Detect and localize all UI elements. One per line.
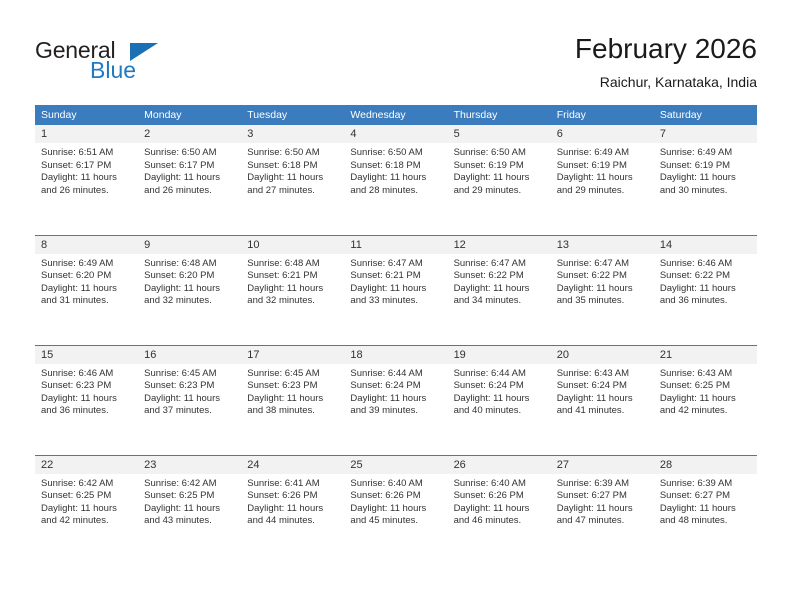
daylight-text: Daylight: 11 hours and 38 minutes. <box>247 393 336 418</box>
sunrise-text: Sunrise: 6:49 AM <box>660 147 749 160</box>
day-details: Sunrise: 6:45 AM Sunset: 6:23 PM Dayligh… <box>241 364 344 418</box>
calendar-page: General Blue February 2026 Raichur, Karn… <box>0 0 792 612</box>
day-number: 16 <box>138 346 241 364</box>
day-number: 8 <box>35 236 138 254</box>
sunrise-text: Sunrise: 6:43 AM <box>557 368 646 381</box>
day-cell[interactable]: 6 Sunrise: 6:49 AM Sunset: 6:19 PM Dayli… <box>551 125 654 235</box>
day-number: 15 <box>35 346 138 364</box>
weekday-header-thursday: Thursday <box>448 105 551 125</box>
daylight-text: Daylight: 11 hours and 29 minutes. <box>557 172 646 197</box>
daylight-text: Daylight: 11 hours and 35 minutes. <box>557 283 646 308</box>
day-details: Sunrise: 6:46 AM Sunset: 6:23 PM Dayligh… <box>35 364 138 418</box>
daylight-text: Daylight: 11 hours and 26 minutes. <box>41 172 130 197</box>
day-cell[interactable]: 16 Sunrise: 6:45 AM Sunset: 6:23 PM Dayl… <box>138 345 241 455</box>
sunset-text: Sunset: 6:26 PM <box>350 490 439 503</box>
day-details: Sunrise: 6:50 AM Sunset: 6:19 PM Dayligh… <box>448 143 551 197</box>
location-subtitle: Raichur, Karnataka, India <box>575 72 757 92</box>
day-details: Sunrise: 6:44 AM Sunset: 6:24 PM Dayligh… <box>344 364 447 418</box>
sunset-text: Sunset: 6:21 PM <box>247 270 336 283</box>
day-cell[interactable]: 23 Sunrise: 6:42 AM Sunset: 6:25 PM Dayl… <box>138 455 241 565</box>
daylight-text: Daylight: 11 hours and 47 minutes. <box>557 503 646 528</box>
calendar-week-row: 1 Sunrise: 6:51 AM Sunset: 6:17 PM Dayli… <box>35 125 757 235</box>
day-number: 5 <box>448 125 551 143</box>
sunrise-text: Sunrise: 6:46 AM <box>41 368 130 381</box>
day-details: Sunrise: 6:43 AM Sunset: 6:25 PM Dayligh… <box>654 364 757 418</box>
day-number: 23 <box>138 456 241 474</box>
sunset-text: Sunset: 6:23 PM <box>247 380 336 393</box>
daylight-text: Daylight: 11 hours and 34 minutes. <box>454 283 543 308</box>
daylight-text: Daylight: 11 hours and 42 minutes. <box>660 393 749 418</box>
daylight-text: Daylight: 11 hours and 36 minutes. <box>660 283 749 308</box>
day-details: Sunrise: 6:47 AM Sunset: 6:21 PM Dayligh… <box>344 254 447 308</box>
sunset-text: Sunset: 6:26 PM <box>247 490 336 503</box>
sunrise-text: Sunrise: 6:40 AM <box>350 478 439 491</box>
day-cell[interactable]: 1 Sunrise: 6:51 AM Sunset: 6:17 PM Dayli… <box>35 125 138 235</box>
weekday-header-saturday: Saturday <box>654 105 757 125</box>
day-number: 14 <box>654 236 757 254</box>
day-number: 13 <box>551 236 654 254</box>
day-number: 22 <box>35 456 138 474</box>
daylight-text: Daylight: 11 hours and 28 minutes. <box>350 172 439 197</box>
page-header: General Blue February 2026 Raichur, Karn… <box>0 0 792 100</box>
daylight-text: Daylight: 11 hours and 27 minutes. <box>247 172 336 197</box>
day-number: 25 <box>344 456 447 474</box>
sunrise-text: Sunrise: 6:50 AM <box>144 147 233 160</box>
daylight-text: Daylight: 11 hours and 46 minutes. <box>454 503 543 528</box>
day-cell[interactable]: 2 Sunrise: 6:50 AM Sunset: 6:17 PM Dayli… <box>138 125 241 235</box>
general-blue-logo[interactable]: General Blue <box>35 37 235 87</box>
sunset-text: Sunset: 6:19 PM <box>557 160 646 173</box>
sunrise-text: Sunrise: 6:43 AM <box>660 368 749 381</box>
sunrise-text: Sunrise: 6:42 AM <box>144 478 233 491</box>
day-number: 4 <box>344 125 447 143</box>
sunrise-text: Sunrise: 6:40 AM <box>454 478 543 491</box>
day-number: 17 <box>241 346 344 364</box>
calendar-week-row: 15 Sunrise: 6:46 AM Sunset: 6:23 PM Dayl… <box>35 345 757 455</box>
sunset-text: Sunset: 6:17 PM <box>144 160 233 173</box>
weekday-header-friday: Friday <box>551 105 654 125</box>
sunset-text: Sunset: 6:25 PM <box>144 490 233 503</box>
day-cell[interactable]: 8 Sunrise: 6:49 AM Sunset: 6:20 PM Dayli… <box>35 235 138 345</box>
day-details: Sunrise: 6:48 AM Sunset: 6:21 PM Dayligh… <box>241 254 344 308</box>
page-title: February 2026 <box>575 32 757 66</box>
day-details: Sunrise: 6:50 AM Sunset: 6:17 PM Dayligh… <box>138 143 241 197</box>
sunset-text: Sunset: 6:27 PM <box>660 490 749 503</box>
sunrise-text: Sunrise: 6:42 AM <box>41 478 130 491</box>
day-cell[interactable]: 5 Sunrise: 6:50 AM Sunset: 6:19 PM Dayli… <box>448 125 551 235</box>
day-details: Sunrise: 6:40 AM Sunset: 6:26 PM Dayligh… <box>448 474 551 528</box>
day-cell[interactable]: 26 Sunrise: 6:40 AM Sunset: 6:26 PM Dayl… <box>448 455 551 565</box>
day-number: 21 <box>654 346 757 364</box>
day-cell[interactable]: 7 Sunrise: 6:49 AM Sunset: 6:19 PM Dayli… <box>654 125 757 235</box>
sunset-text: Sunset: 6:22 PM <box>660 270 749 283</box>
daylight-text: Daylight: 11 hours and 43 minutes. <box>144 503 233 528</box>
day-cell[interactable]: 4 Sunrise: 6:50 AM Sunset: 6:18 PM Dayli… <box>344 125 447 235</box>
day-cell[interactable]: 11 Sunrise: 6:47 AM Sunset: 6:21 PM Dayl… <box>344 235 447 345</box>
sunrise-text: Sunrise: 6:50 AM <box>454 147 543 160</box>
daylight-text: Daylight: 11 hours and 40 minutes. <box>454 393 543 418</box>
daylight-text: Daylight: 11 hours and 32 minutes. <box>144 283 233 308</box>
sunset-text: Sunset: 6:23 PM <box>144 380 233 393</box>
day-details: Sunrise: 6:40 AM Sunset: 6:26 PM Dayligh… <box>344 474 447 528</box>
day-details: Sunrise: 6:44 AM Sunset: 6:24 PM Dayligh… <box>448 364 551 418</box>
day-details: Sunrise: 6:39 AM Sunset: 6:27 PM Dayligh… <box>654 474 757 528</box>
day-cell[interactable]: 3 Sunrise: 6:50 AM Sunset: 6:18 PM Dayli… <box>241 125 344 235</box>
day-number: 3 <box>241 125 344 143</box>
sunrise-text: Sunrise: 6:46 AM <box>660 258 749 271</box>
sunset-text: Sunset: 6:27 PM <box>557 490 646 503</box>
sunrise-text: Sunrise: 6:50 AM <box>247 147 336 160</box>
weekday-header-tuesday: Tuesday <box>241 105 344 125</box>
sunrise-text: Sunrise: 6:39 AM <box>660 478 749 491</box>
day-details: Sunrise: 6:48 AM Sunset: 6:20 PM Dayligh… <box>138 254 241 308</box>
day-cell[interactable]: 15 Sunrise: 6:46 AM Sunset: 6:23 PM Dayl… <box>35 345 138 455</box>
title-block: February 2026 Raichur, Karnataka, India <box>575 32 757 92</box>
day-cell[interactable]: 19 Sunrise: 6:44 AM Sunset: 6:24 PM Dayl… <box>448 345 551 455</box>
day-number: 6 <box>551 125 654 143</box>
sunset-text: Sunset: 6:21 PM <box>350 270 439 283</box>
day-cell[interactable]: 22 Sunrise: 6:42 AM Sunset: 6:25 PM Dayl… <box>35 455 138 565</box>
day-cell[interactable]: 24 Sunrise: 6:41 AM Sunset: 6:26 PM Dayl… <box>241 455 344 565</box>
weekday-header-monday: Monday <box>138 105 241 125</box>
day-details: Sunrise: 6:51 AM Sunset: 6:17 PM Dayligh… <box>35 143 138 197</box>
sunrise-text: Sunrise: 6:39 AM <box>557 478 646 491</box>
day-cell[interactable]: 17 Sunrise: 6:45 AM Sunset: 6:23 PM Dayl… <box>241 345 344 455</box>
day-details: Sunrise: 6:49 AM Sunset: 6:20 PM Dayligh… <box>35 254 138 308</box>
weekday-header-wednesday: Wednesday <box>344 105 447 125</box>
sunrise-text: Sunrise: 6:41 AM <box>247 478 336 491</box>
daylight-text: Daylight: 11 hours and 33 minutes. <box>350 283 439 308</box>
day-cell[interactable]: 28 Sunrise: 6:39 AM Sunset: 6:27 PM Dayl… <box>654 455 757 565</box>
day-cell[interactable]: 13 Sunrise: 6:47 AM Sunset: 6:22 PM Dayl… <box>551 235 654 345</box>
day-number: 10 <box>241 236 344 254</box>
calendar-week-row: 22 Sunrise: 6:42 AM Sunset: 6:25 PM Dayl… <box>35 455 757 565</box>
day-details: Sunrise: 6:47 AM Sunset: 6:22 PM Dayligh… <box>551 254 654 308</box>
day-number: 2 <box>138 125 241 143</box>
daylight-text: Daylight: 11 hours and 29 minutes. <box>454 172 543 197</box>
day-cell[interactable]: 14 Sunrise: 6:46 AM Sunset: 6:22 PM Dayl… <box>654 235 757 345</box>
sunset-text: Sunset: 6:17 PM <box>41 160 130 173</box>
daylight-text: Daylight: 11 hours and 41 minutes. <box>557 393 646 418</box>
sunrise-text: Sunrise: 6:48 AM <box>144 258 233 271</box>
day-cell[interactable]: 21 Sunrise: 6:43 AM Sunset: 6:25 PM Dayl… <box>654 345 757 455</box>
day-number: 11 <box>344 236 447 254</box>
sunset-text: Sunset: 6:22 PM <box>557 270 646 283</box>
sunset-text: Sunset: 6:19 PM <box>660 160 749 173</box>
day-number: 24 <box>241 456 344 474</box>
logo-text-blue: Blue <box>90 57 136 84</box>
day-details: Sunrise: 6:49 AM Sunset: 6:19 PM Dayligh… <box>654 143 757 197</box>
day-details: Sunrise: 6:41 AM Sunset: 6:26 PM Dayligh… <box>241 474 344 528</box>
calendar-header-row: Sunday Monday Tuesday Wednesday Thursday… <box>35 105 757 125</box>
sunrise-text: Sunrise: 6:47 AM <box>350 258 439 271</box>
sunrise-text: Sunrise: 6:44 AM <box>350 368 439 381</box>
sunset-text: Sunset: 6:25 PM <box>41 490 130 503</box>
sunrise-text: Sunrise: 6:47 AM <box>454 258 543 271</box>
day-cell[interactable]: 25 Sunrise: 6:40 AM Sunset: 6:26 PM Dayl… <box>344 455 447 565</box>
sunset-text: Sunset: 6:26 PM <box>454 490 543 503</box>
sunrise-text: Sunrise: 6:47 AM <box>557 258 646 271</box>
day-number: 18 <box>344 346 447 364</box>
sunset-text: Sunset: 6:24 PM <box>350 380 439 393</box>
day-cell[interactable]: 27 Sunrise: 6:39 AM Sunset: 6:27 PM Dayl… <box>551 455 654 565</box>
sunset-text: Sunset: 6:18 PM <box>350 160 439 173</box>
day-number: 27 <box>551 456 654 474</box>
daylight-text: Daylight: 11 hours and 39 minutes. <box>350 393 439 418</box>
sunrise-text: Sunrise: 6:45 AM <box>144 368 233 381</box>
day-number: 19 <box>448 346 551 364</box>
sunrise-text: Sunrise: 6:49 AM <box>557 147 646 160</box>
sunrise-text: Sunrise: 6:49 AM <box>41 258 130 271</box>
calendar-grid: Sunday Monday Tuesday Wednesday Thursday… <box>35 105 757 565</box>
sunrise-text: Sunrise: 6:50 AM <box>350 147 439 160</box>
day-details: Sunrise: 6:50 AM Sunset: 6:18 PM Dayligh… <box>241 143 344 197</box>
day-details: Sunrise: 6:43 AM Sunset: 6:24 PM Dayligh… <box>551 364 654 418</box>
daylight-text: Daylight: 11 hours and 26 minutes. <box>144 172 233 197</box>
sunrise-text: Sunrise: 6:48 AM <box>247 258 336 271</box>
daylight-text: Daylight: 11 hours and 48 minutes. <box>660 503 749 528</box>
daylight-text: Daylight: 11 hours and 31 minutes. <box>41 283 130 308</box>
daylight-text: Daylight: 11 hours and 30 minutes. <box>660 172 749 197</box>
daylight-text: Daylight: 11 hours and 45 minutes. <box>350 503 439 528</box>
sunset-text: Sunset: 6:18 PM <box>247 160 336 173</box>
sunset-text: Sunset: 6:22 PM <box>454 270 543 283</box>
sunset-text: Sunset: 6:24 PM <box>557 380 646 393</box>
day-details: Sunrise: 6:45 AM Sunset: 6:23 PM Dayligh… <box>138 364 241 418</box>
day-number: 26 <box>448 456 551 474</box>
sunrise-text: Sunrise: 6:51 AM <box>41 147 130 160</box>
day-cell[interactable]: 18 Sunrise: 6:44 AM Sunset: 6:24 PM Dayl… <box>344 345 447 455</box>
weekday-header-sunday: Sunday <box>35 105 138 125</box>
day-cell[interactable]: 9 Sunrise: 6:48 AM Sunset: 6:20 PM Dayli… <box>138 235 241 345</box>
sunset-text: Sunset: 6:25 PM <box>660 380 749 393</box>
sunset-text: Sunset: 6:24 PM <box>454 380 543 393</box>
daylight-text: Daylight: 11 hours and 32 minutes. <box>247 283 336 308</box>
day-details: Sunrise: 6:47 AM Sunset: 6:22 PM Dayligh… <box>448 254 551 308</box>
day-details: Sunrise: 6:50 AM Sunset: 6:18 PM Dayligh… <box>344 143 447 197</box>
sunset-text: Sunset: 6:23 PM <box>41 380 130 393</box>
calendar-week-row: 8 Sunrise: 6:49 AM Sunset: 6:20 PM Dayli… <box>35 235 757 345</box>
daylight-text: Daylight: 11 hours and 36 minutes. <box>41 393 130 418</box>
day-details: Sunrise: 6:42 AM Sunset: 6:25 PM Dayligh… <box>35 474 138 528</box>
sunset-text: Sunset: 6:20 PM <box>41 270 130 283</box>
day-cell[interactable]: 10 Sunrise: 6:48 AM Sunset: 6:21 PM Dayl… <box>241 235 344 345</box>
day-number: 9 <box>138 236 241 254</box>
sunrise-text: Sunrise: 6:44 AM <box>454 368 543 381</box>
day-cell[interactable]: 12 Sunrise: 6:47 AM Sunset: 6:22 PM Dayl… <box>448 235 551 345</box>
day-details: Sunrise: 6:42 AM Sunset: 6:25 PM Dayligh… <box>138 474 241 528</box>
day-details: Sunrise: 6:46 AM Sunset: 6:22 PM Dayligh… <box>654 254 757 308</box>
sunrise-text: Sunrise: 6:45 AM <box>247 368 336 381</box>
daylight-text: Daylight: 11 hours and 44 minutes. <box>247 503 336 528</box>
day-number: 7 <box>654 125 757 143</box>
day-number: 20 <box>551 346 654 364</box>
daylight-text: Daylight: 11 hours and 42 minutes. <box>41 503 130 528</box>
day-number: 1 <box>35 125 138 143</box>
day-details: Sunrise: 6:49 AM Sunset: 6:19 PM Dayligh… <box>551 143 654 197</box>
day-number: 12 <box>448 236 551 254</box>
sunset-text: Sunset: 6:20 PM <box>144 270 233 283</box>
day-details: Sunrise: 6:39 AM Sunset: 6:27 PM Dayligh… <box>551 474 654 528</box>
calendar-body: 1 Sunrise: 6:51 AM Sunset: 6:17 PM Dayli… <box>35 125 757 565</box>
day-number: 28 <box>654 456 757 474</box>
calendar-table: Sunday Monday Tuesday Wednesday Thursday… <box>35 105 757 565</box>
day-cell[interactable]: 20 Sunrise: 6:43 AM Sunset: 6:24 PM Dayl… <box>551 345 654 455</box>
daylight-text: Daylight: 11 hours and 37 minutes. <box>144 393 233 418</box>
sunset-text: Sunset: 6:19 PM <box>454 160 543 173</box>
